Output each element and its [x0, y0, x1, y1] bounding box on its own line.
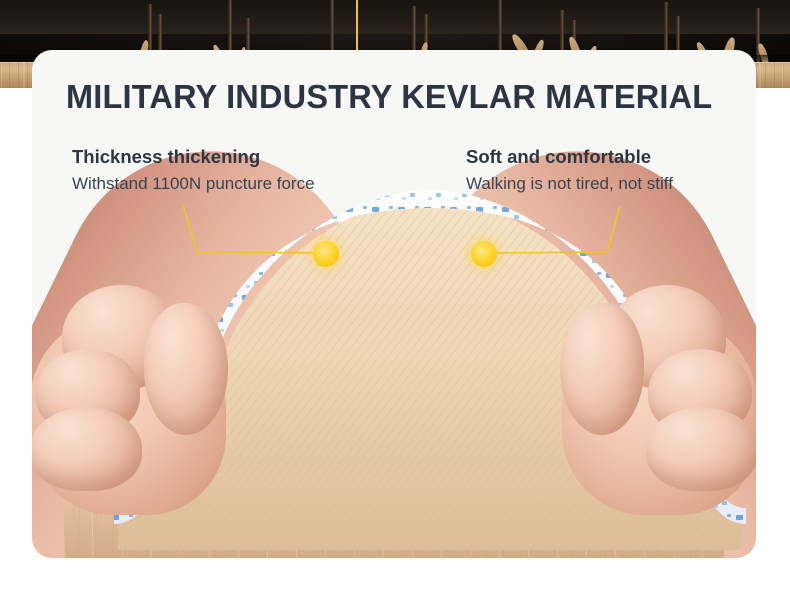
- yellow-guide-line: [356, 0, 358, 56]
- hand-right: [530, 273, 756, 523]
- page-title: MILITARY INDUSTRY KEVLAR MATERIAL: [66, 77, 712, 117]
- callout-dot-right: [471, 241, 497, 267]
- hand-left-knuckle: [32, 407, 142, 491]
- feature-block-right: Soft and comfortable Walking is not tire…: [466, 145, 673, 195]
- callout-dot-left: [313, 241, 339, 267]
- feature-block-left: Thickness thickening Withstand 1100N pun…: [72, 145, 315, 195]
- content-card: MILITARY INDUSTRY KEVLAR MATERIAL Thickn…: [32, 50, 756, 558]
- hand-left: [32, 273, 258, 523]
- feature-left-subtitle: Withstand 1100N puncture force: [72, 172, 315, 195]
- feature-right-subtitle: Walking is not tired, not stiff: [466, 172, 673, 195]
- feature-left-title: Thickness thickening: [72, 145, 315, 169]
- hand-left-thumb: [144, 303, 228, 435]
- dark-backdrop: [0, 0, 790, 34]
- product-banner: MILITARY INDUSTRY KEVLAR MATERIAL Thickn…: [0, 0, 790, 595]
- hand-right-knuckle: [646, 407, 756, 491]
- hand-right-thumb: [560, 303, 644, 435]
- product-photo: [32, 50, 756, 558]
- feature-right-title: Soft and comfortable: [466, 145, 673, 169]
